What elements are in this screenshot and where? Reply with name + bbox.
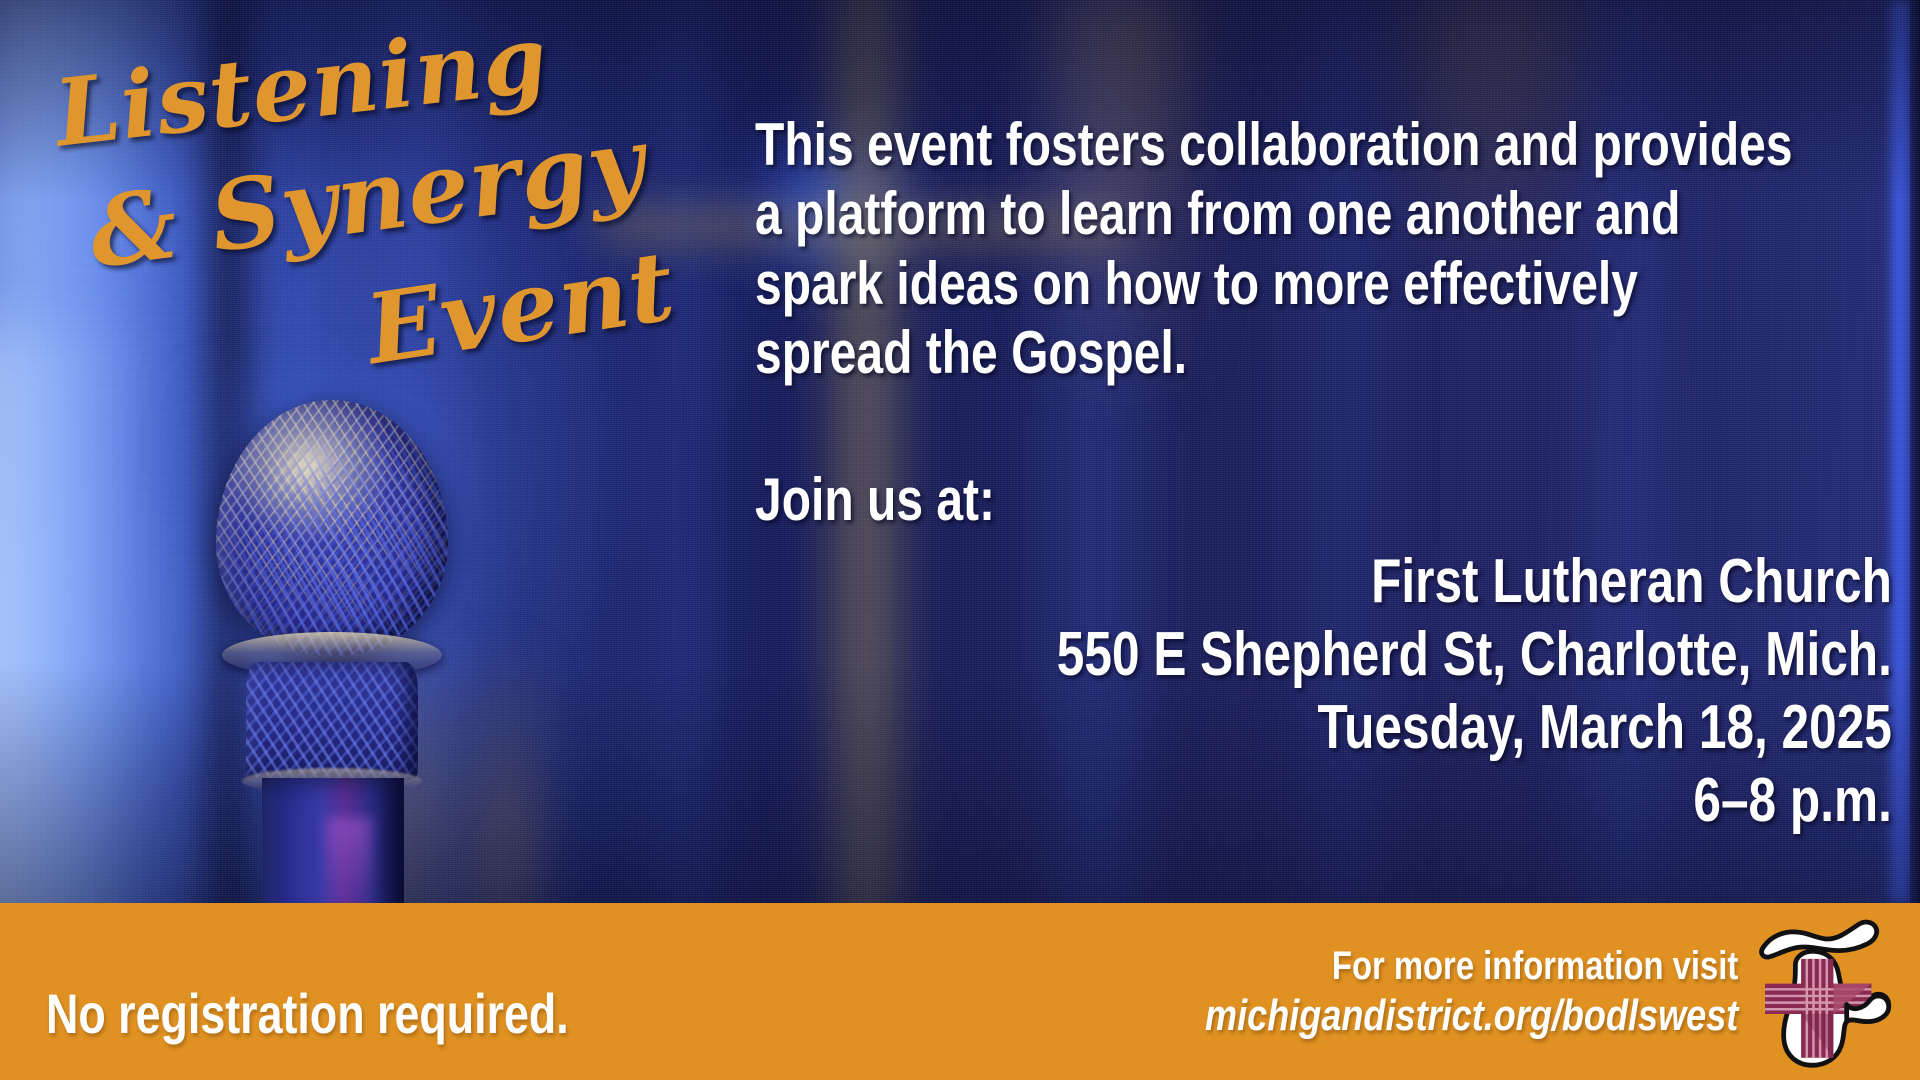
description-line-2: a platform to learn from one another and: [755, 179, 1683, 248]
microphone-collar: [246, 662, 418, 780]
more-info-block: For more information visit michigandistr…: [1088, 943, 1738, 1042]
more-info-url[interactable]: michigandistrict.org/bodlswest: [1205, 990, 1738, 1042]
event-description: This event fosters collaboration and pro…: [755, 110, 1915, 387]
microphone-icon: [208, 400, 468, 920]
event-flyer: Listening & Synergy Event This event fos…: [0, 0, 1920, 1080]
page-title: Listening & Synergy Event: [26, 22, 726, 352]
venue-details: First Lutheran Church 550 E Shepherd St,…: [848, 545, 1892, 838]
footer-bar: No registration required. For more infor…: [0, 903, 1920, 1080]
venue-time: 6–8 p.m.: [1057, 764, 1892, 837]
description-line-4: spread the Gospel.: [755, 318, 1683, 387]
venue-name: First Lutheran Church: [1057, 545, 1892, 618]
description-line-3: spark ideas on how to more effectively: [755, 249, 1683, 318]
microphone-mesh-shadow: [216, 400, 448, 656]
venue-address: 550 E Shepherd St, Charlotte, Mich.: [1057, 618, 1892, 691]
no-registration-note: No registration required.: [46, 981, 569, 1046]
join-us-label: Join us at:: [755, 465, 1055, 534]
more-info-prompt: For more information visit: [1205, 943, 1738, 990]
venue-date: Tuesday, March 18, 2025: [1057, 691, 1892, 764]
michigan-district-lcms-logo: [1746, 919, 1898, 1071]
join-us-text: Join us at:: [755, 465, 995, 534]
description-line-1: This event fosters collaboration and pro…: [755, 110, 1683, 179]
microphone-grille-head: [216, 400, 448, 656]
